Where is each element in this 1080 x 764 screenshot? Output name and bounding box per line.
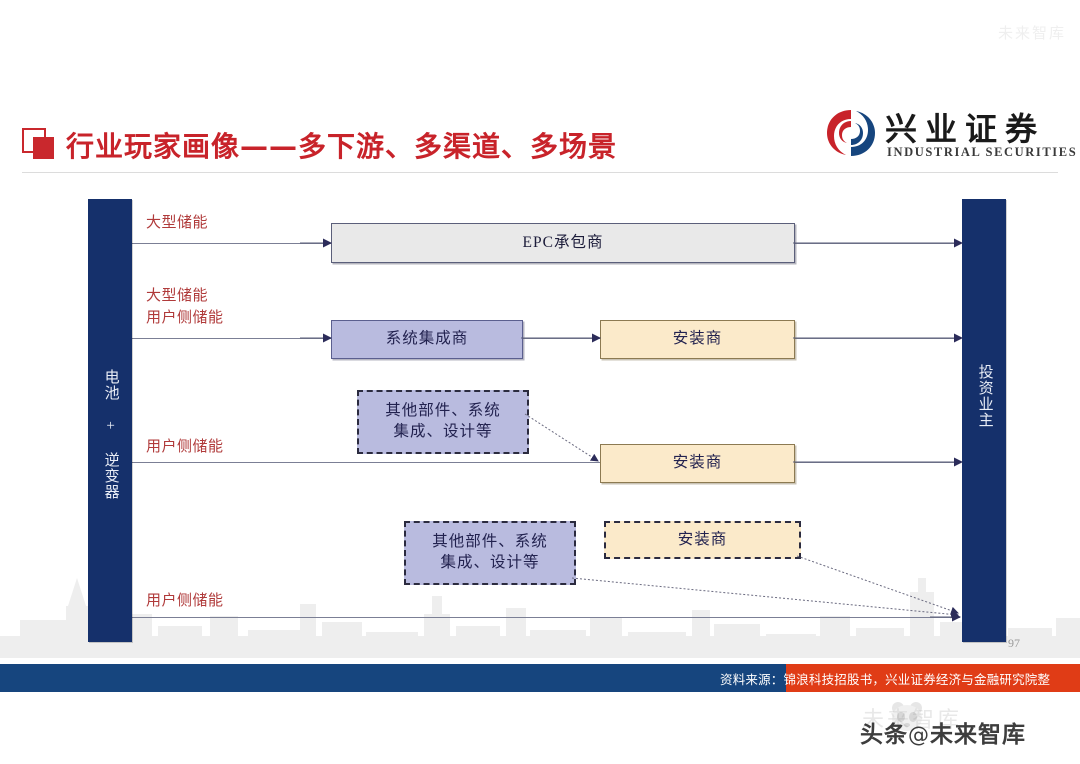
footer-source-text: 资料来源：锦浪科技招股书，兴业证券经济与金融研究院整 (720, 669, 1050, 688)
other-components-label-row-4-line-1: 其他部件、系统 (432, 532, 548, 553)
row-4-label: 用户侧储能 (146, 591, 224, 613)
left-bar-battery-inverter: 电池 + 逆变器 (88, 199, 132, 642)
other-components-box-row-3[interactable]: 其他部件、系统 集成、设计等 (357, 390, 529, 454)
epc-contractor-box[interactable]: EPC承包商 (331, 223, 795, 263)
watermark-bottom-name: 未来智库 (930, 722, 1026, 748)
watermark-bottom-brand: 头条 (860, 722, 908, 748)
watermark-bottom: 头条@未来智库 (860, 715, 1026, 749)
watermark-at-icon: @ (908, 723, 930, 747)
row-2-label-line-2: 用户侧储能 (146, 308, 224, 330)
square-marker-icon (22, 128, 56, 160)
row-4-connector-line (130, 617, 960, 618)
watermark-top-right: 未来智库 (998, 22, 1066, 43)
logo-english-name: INDUSTRIAL SECURITIES (887, 145, 1077, 160)
page-number: 97 (1008, 636, 1020, 651)
installer-label-row-4: 安装商 (678, 530, 728, 551)
installer-label-row-2: 安装商 (673, 329, 723, 350)
row-1-label: 大型储能 (146, 213, 208, 235)
page-title: 行业玩家画像——多下游、多渠道、多场景 (66, 125, 617, 165)
system-integrator-box[interactable]: 系统集成商 (331, 320, 523, 359)
slide-canvas: 未来智库 行业玩家画像——多下游、多渠道、多场景 兴业证券 INDUSTRIAL… (0, 0, 1080, 764)
row-2-connector-line (130, 338, 960, 339)
header-divider (22, 172, 1058, 173)
row-3-label: 用户侧储能 (146, 437, 224, 459)
row-2-label-line-1: 大型储能 (146, 286, 224, 308)
epc-contractor-label: EPC承包商 (523, 233, 604, 254)
system-integrator-label: 系统集成商 (386, 329, 469, 350)
installer-box-row-3[interactable]: 安装商 (600, 444, 795, 483)
other-components-box-row-4[interactable]: 其他部件、系统 集成、设计等 (404, 521, 576, 585)
other-components-label-row-3-line-1: 其他部件、系统 (385, 401, 501, 422)
row-2-label: 大型储能 用户侧储能 (146, 286, 224, 330)
logo-chinese-name: 兴业证券 (885, 104, 1045, 150)
installer-label-row-3: 安装商 (673, 453, 723, 474)
right-bar-label: 投资业主 (972, 364, 995, 428)
left-bar-label: 电池 + 逆变器 (98, 369, 121, 500)
right-bar-investor-owner: 投资业主 (962, 199, 1006, 642)
other-components-label-row-3-line-2: 集成、设计等 (393, 422, 492, 443)
other-components-label-row-4-line-2: 集成、设计等 (440, 553, 539, 574)
installer-box-row-4[interactable]: 安装商 (604, 521, 801, 559)
installer-box-row-2[interactable]: 安装商 (600, 320, 795, 359)
industrial-securities-swirl-logo-icon (825, 108, 877, 158)
row-3-connector-line (130, 462, 960, 463)
